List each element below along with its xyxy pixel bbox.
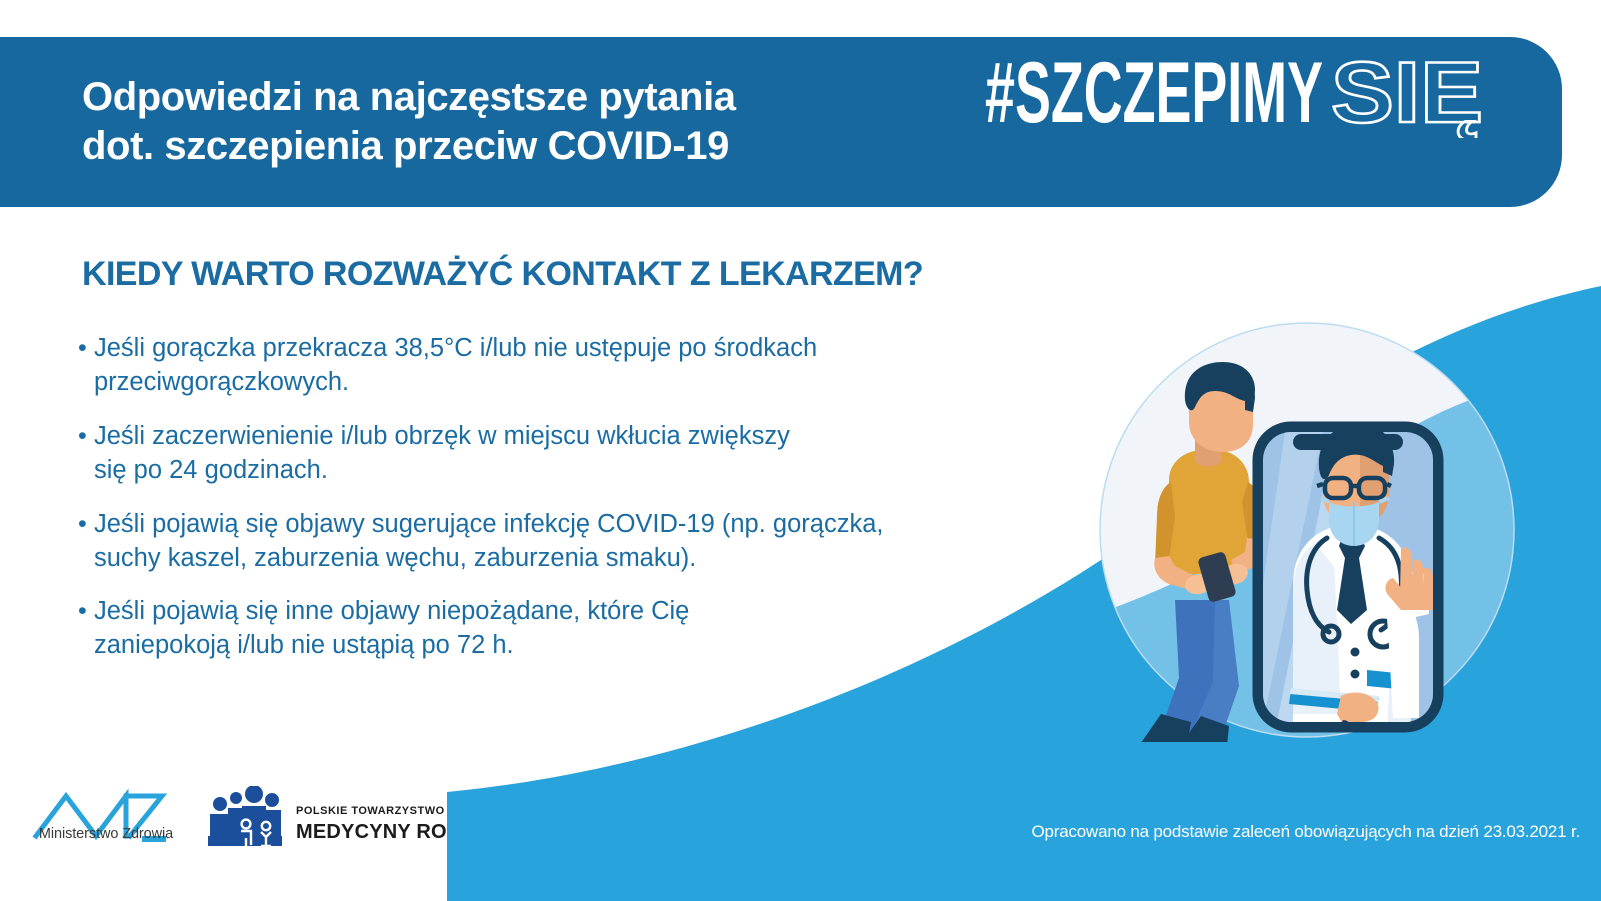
szczepimysie-logo: #SZCZEPIMY SIĘ [985,50,1505,138]
family-group-icon [208,786,282,846]
bullet-marker-icon: • [78,595,94,663]
list-item-text: Jeśli pojawią się inne objawy niepożądan… [94,595,1038,663]
bullet-marker-icon: • [78,420,94,488]
section-heading: KIEDY WARTO ROZWAŻYĆ KONTAKT Z LEKARZEM? [82,255,923,294]
bullet-marker-icon: • [78,332,94,400]
telemedicine-illustration [1035,322,1580,742]
list-item-text: Jeśli gorączka przekracza 38,5°C i/lub n… [94,332,1038,400]
ministry-of-health-caption: Ministerstwo Zdrowia [26,826,186,842]
footer-note: Opracowano na podstawie zaleceń obowiązu… [880,822,1580,842]
logo-solid-text: #SZCZEPIMY [985,50,1323,138]
list-item: • Jeśli gorączka przekracza 38,5°C i/lub… [78,332,1038,400]
list-item: • Jeśli pojawią się objawy sugerujące in… [78,508,1038,576]
ministry-of-health-logo [30,782,180,854]
list-item-text: Jeśli zaczerwienienie i/lub obrzęk w mie… [94,420,1038,488]
list-item: • Jeśli pojawią się inne objawy niepożąd… [78,595,1038,663]
bullet-list: • Jeśli gorączka przekracza 38,5°C i/lub… [78,332,1038,683]
logo-outline-text: SIĘ [1331,50,1483,138]
bullet-marker-icon: • [78,508,94,576]
list-item: • Jeśli zaczerwienienie i/lub obrzęk w m… [78,420,1038,488]
smartphone-with-doctor [1243,424,1441,738]
infographic-poster: Odpowiedzi na najczęstsze pytania dot. s… [0,0,1601,901]
ptmr-logo: POLSKIE TOWARZYSTWO MEDYCYNY RODZINNEJ [208,786,448,852]
ptmr-line1: POLSKIE TOWARZYSTWO [296,805,445,817]
page-title: Odpowiedzi na najczęstsze pytania dot. s… [82,73,736,171]
ptmr-line2: MEDYCYNY RODZINNEJ [296,821,448,843]
list-item-text: Jeśli pojawią się objawy sugerujące infe… [94,508,1038,576]
